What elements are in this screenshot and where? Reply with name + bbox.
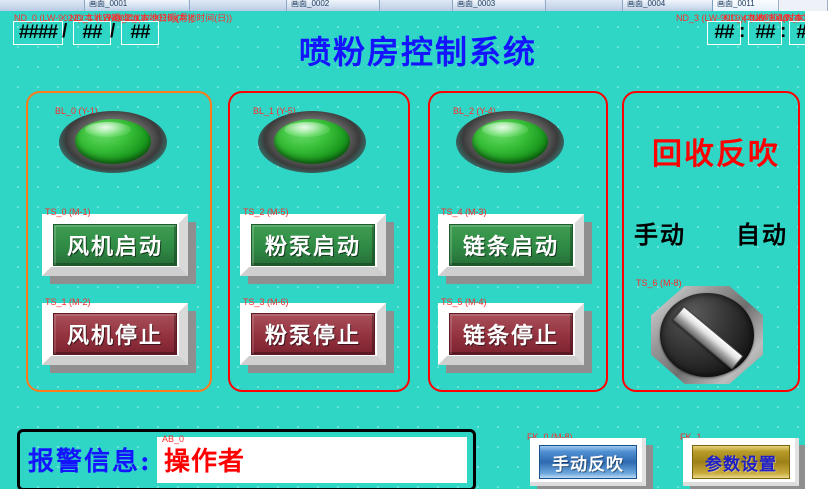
- hmi-screen: 画面_0001 画面_0002 画面_0003 画面_0004 画面_0011 …: [0, 0, 828, 500]
- screen-tab-0[interactable]: 画面_0001: [84, 0, 190, 11]
- screen-tab-3[interactable]: 画面_0004: [622, 0, 716, 11]
- lamp-highlight: [482, 122, 528, 137]
- date-separator-1: /: [62, 21, 67, 42]
- indicator-lamp-fan: [59, 111, 167, 173]
- button-label: 参数设置: [692, 445, 790, 479]
- indicator-lamp-powder-pump: [258, 111, 366, 173]
- time-hour-display[interactable]: ##: [707, 21, 741, 45]
- screen-tab-label: 画面_0003: [457, 0, 495, 8]
- button-fan-stop[interactable]: 风机停止: [42, 303, 188, 365]
- alarm-message-value: 操作者: [164, 441, 245, 478]
- button-label: 风机启动: [53, 224, 177, 266]
- button-label: 粉泵停止: [251, 313, 375, 355]
- date-year-display[interactable]: ####: [13, 21, 63, 45]
- canvas-right-margin: [805, 11, 828, 500]
- rotary-selector-switch[interactable]: [651, 286, 763, 384]
- button-chain-start[interactable]: 链条启动: [438, 214, 584, 276]
- button-label: 手动反吹: [539, 445, 637, 479]
- time-second-display[interactable]: ##: [789, 21, 805, 45]
- button-manual-back-blow[interactable]: 手动反吹: [530, 438, 646, 486]
- screen-tab-label: 画面_0001: [89, 0, 127, 8]
- button-label: 风机停止: [53, 313, 177, 355]
- canvas-bottom-margin: [0, 489, 828, 500]
- button-parameter-settings[interactable]: 参数设置: [683, 438, 799, 486]
- button-label: 链条停止: [449, 313, 573, 355]
- time-minute-display[interactable]: ##: [748, 21, 782, 45]
- button-chain-stop[interactable]: 链条停止: [438, 303, 584, 365]
- alarm-info-label: 报警信息:: [28, 441, 152, 478]
- date-day-display[interactable]: ##: [121, 21, 159, 45]
- button-powder-pump-start[interactable]: 粉泵启动: [240, 214, 386, 276]
- lamp-highlight: [284, 122, 330, 137]
- screen-tab-label: 画面_0011: [717, 0, 755, 8]
- screen-tab-1[interactable]: 画面_0002: [286, 0, 380, 11]
- lamp-highlight: [85, 122, 131, 137]
- date-separator-2: /: [110, 21, 115, 42]
- page-title: 喷粉房控制系统: [278, 33, 558, 71]
- button-fan-start[interactable]: 风机启动: [42, 214, 188, 276]
- mode-label-manual: 手动: [634, 215, 686, 250]
- screen-tab-label: 画面_0002: [291, 0, 329, 8]
- button-label: 链条启动: [449, 224, 573, 266]
- screen-tab-label: 画面_0004: [627, 0, 665, 8]
- mode-label-auto: 自动: [736, 215, 788, 250]
- button-label: 粉泵启动: [251, 224, 375, 266]
- time-separator-2: :: [780, 21, 786, 42]
- screen-tab-2[interactable]: 画面_0003: [452, 0, 546, 11]
- date-month-display[interactable]: ##: [73, 21, 111, 45]
- button-powder-pump-stop[interactable]: 粉泵停止: [240, 303, 386, 365]
- recovery-title: 回收反吹: [636, 129, 796, 173]
- indicator-lamp-chain: [456, 111, 564, 173]
- tab-strip-filler: [778, 0, 828, 11]
- hmi-canvas: ND_0 (LW-9022)(本地日期(年)) ND_1 (LW-9021)(本…: [0, 11, 805, 489]
- time-separator-1: :: [739, 21, 745, 42]
